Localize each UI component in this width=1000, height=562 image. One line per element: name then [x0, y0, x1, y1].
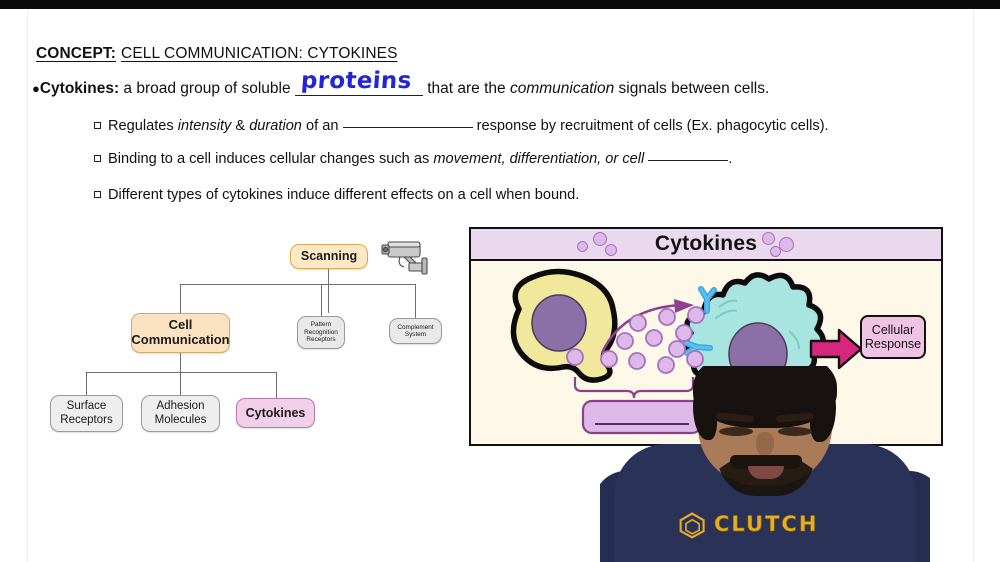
sub1-part3: response by recruitment of cells (Ex. ph… [477, 118, 829, 134]
sub2-part3: . [728, 151, 732, 167]
cytokine-bubble-icon [779, 237, 794, 252]
slide-frame-right-edge [973, 9, 974, 562]
flow-node-cytokines-label: Cytokines [246, 406, 306, 420]
flow-node-cell-communication-label: Cell Communication [131, 318, 229, 348]
bullet-text-2: that are the [427, 80, 505, 97]
flow-node-complement-system[interactable]: Complement System [389, 318, 442, 344]
sub-point-3: Different types of cytokines induce diff… [94, 187, 579, 203]
flow-connector [86, 372, 87, 395]
fill-in-blank-empty [343, 127, 473, 128]
secreting-cell-nucleus [532, 295, 586, 351]
slide-frame-left-edge [27, 9, 28, 562]
flow-node-surface-receptors-label: Surface Receptors [60, 400, 112, 426]
flow-connector [276, 372, 277, 398]
flow-node-cytokines[interactable]: Cytokines [236, 398, 315, 428]
sub1-em1: intensity [178, 118, 232, 134]
main-bullet: ●Cytokines: a broad group of soluble pro… [32, 80, 769, 98]
sub-point-1: Regulates intensity & duration of an res… [94, 118, 829, 134]
cytokine-bubble-icon [593, 232, 607, 246]
sub1-amp: & [235, 118, 245, 134]
flow-node-scanning[interactable]: Scanning [290, 244, 368, 269]
bullet-term: Cytokines: [40, 80, 119, 97]
bullet-text-1: a broad group of soluble [123, 80, 290, 97]
cytokine-bubble-icon [762, 232, 775, 245]
sub2-em1: movement, differentiation, or cell [433, 151, 644, 167]
concept-heading: CONCEPT:CELL COMMUNICATION: CYTOKINES [36, 45, 398, 63]
cytokine-bubble-icon [577, 241, 588, 252]
sub1-part2: of an [306, 118, 338, 134]
bullet-emphasis-1: communication [510, 80, 614, 97]
concept-label: CONCEPT: [36, 45, 116, 62]
cytokine-bubble-icon [605, 244, 617, 256]
scanning-flowchart: Scanning Cell Communication Pattern Rec [40, 240, 460, 440]
eye-left [719, 427, 753, 436]
hexagon-cube-logo-icon [678, 511, 708, 539]
shirt-logo-text: CLUTCH [714, 512, 818, 536]
slide-screen: CONCEPT:CELL COMMUNICATION: CYTOKINES ●C… [0, 0, 1000, 562]
flow-connector [180, 284, 181, 313]
flow-node-complement-label: Complement System [397, 324, 433, 339]
eye-right [778, 427, 812, 436]
nose [756, 432, 774, 456]
sub2-part1: Binding to a cell induces cellular chang… [108, 151, 429, 167]
flow-connector [180, 284, 416, 285]
sub1-em2: duration [249, 118, 302, 134]
bullet-dot: ● [32, 81, 40, 96]
concept-title: CELL COMMUNICATION: CYTOKINES [121, 45, 397, 62]
cctv-camera-icon [380, 238, 440, 284]
flow-node-cell-communication[interactable]: Cell Communication [131, 313, 230, 353]
checkbox-icon [94, 155, 101, 162]
cellular-response-label: Cellular Response [865, 323, 921, 352]
handwritten-answer: proteins [300, 68, 412, 94]
top-black-bar [0, 0, 1000, 9]
sub-point-2: Binding to a cell induces cellular chang… [94, 151, 732, 167]
checkbox-icon [94, 122, 101, 129]
cytokine-bubble-icon [770, 246, 781, 257]
bullet-text-3: signals between cells. [619, 80, 770, 97]
panel-header: Cytokines [471, 229, 941, 261]
flow-node-prr-label: Pattern Recognition Receptors [304, 321, 338, 343]
cellular-response-box[interactable]: Cellular Response [860, 315, 926, 359]
hair-side-left [693, 384, 717, 440]
flow-connector [180, 372, 181, 395]
flow-connector [180, 353, 181, 372]
flow-connector [328, 269, 329, 313]
sub1-part1: Regulates [108, 118, 174, 134]
flow-node-pattern-recognition-receptors[interactable]: Pattern Recognition Receptors [297, 316, 345, 349]
checkbox-icon [94, 191, 101, 198]
flow-node-adhesion-label: Adhesion Molecules [155, 400, 207, 426]
shirt-logo: CLUTCH [678, 510, 828, 540]
flow-connector [321, 284, 322, 316]
hair-side-right [810, 384, 836, 442]
flow-node-adhesion-molecules[interactable]: Adhesion Molecules [141, 395, 220, 432]
flow-connector [415, 284, 416, 318]
fill-in-blank-empty [648, 160, 728, 161]
sub3-part1: Different types of cytokines induce diff… [108, 187, 579, 203]
panel-title: Cytokines [655, 232, 757, 256]
instructor-webcam-overlay: CLUTCH [600, 366, 930, 562]
flow-node-scanning-label: Scanning [301, 249, 357, 263]
flow-node-surface-receptors[interactable]: Surface Receptors [50, 395, 123, 432]
